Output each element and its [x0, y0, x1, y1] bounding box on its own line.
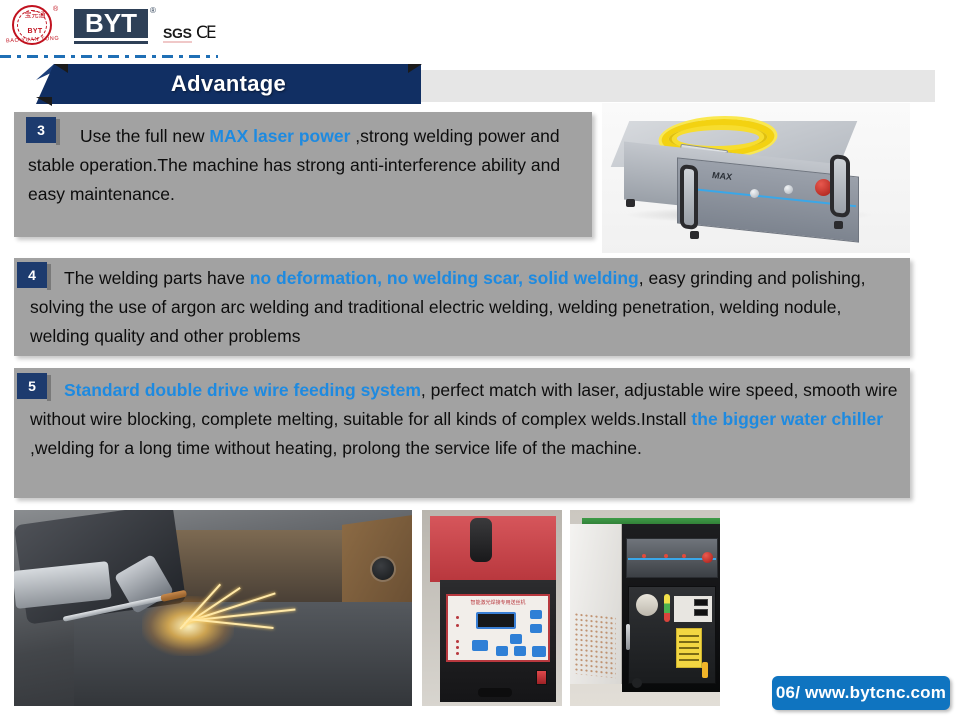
feeder-power-switch[interactable] [536, 670, 547, 685]
cabinet-key-icon [702, 662, 708, 678]
laser-source-foot-3 [834, 221, 843, 229]
feeder-red-top-cover [430, 516, 556, 582]
feeder-button-a[interactable] [496, 646, 508, 656]
laser-welding-in-action-photo [14, 510, 412, 706]
feeder-indicator-3 [456, 640, 459, 643]
panel5-seg-0-highlight: Standard double drive wire feeding syste… [64, 380, 421, 400]
chiller-controller-panel [674, 596, 712, 622]
cabinet-caster-wheel [632, 678, 642, 688]
panel5-seg-2-highlight: the bigger water chiller [691, 409, 883, 429]
chiller-display-1 [694, 599, 708, 606]
cabinet-emergency-stop-button [702, 552, 713, 563]
ce-mark: CE [196, 23, 215, 43]
advantage-panel-4-text: The welding parts have no deformation, n… [14, 258, 910, 359]
emblem-chinese-text: 宝元通 [4, 12, 66, 19]
brand-wordmark-text: BYT [74, 9, 148, 38]
cabinet-led-3 [682, 554, 686, 558]
page-header: 宝元通 BYT BAO YUAN TONG ® BYT ® SGS CE [0, 0, 960, 56]
feeder-digital-display [476, 612, 516, 629]
feeder-button-down[interactable] [530, 624, 542, 633]
max-laser-source-photo: MAX [602, 103, 910, 253]
feeder-button-b[interactable] [514, 646, 526, 656]
welding-horizontal-plate [74, 602, 412, 706]
chiller-display-2 [694, 609, 708, 616]
feeder-front-slot [478, 688, 512, 697]
panel3-seg-0: Use the full new [80, 126, 209, 146]
chiller-level-gauge [664, 594, 670, 622]
feeder-indicator-4 [456, 646, 459, 649]
footer-website-badge[interactable]: 06/ www.bytcnc.com [772, 676, 950, 710]
cabinet-led-2 [664, 554, 668, 558]
chiller-fill-cap [636, 594, 658, 616]
item-number-badge-4: 4 [17, 262, 47, 288]
laser-source-knob-2 [784, 185, 793, 194]
laser-source-knob-1 [750, 189, 759, 198]
feeder-indicator-5 [456, 652, 459, 655]
feeder-panel-title: 智能激光焊接专用送丝机 [448, 599, 548, 606]
welding-arc-flash [142, 596, 234, 656]
chiller-door-handle [626, 624, 630, 650]
emblem-abbr-text: BYT [4, 28, 66, 35]
advantage-panel-5: Standard double drive wire feeding syste… [14, 368, 910, 498]
feeder-button-set[interactable] [472, 640, 488, 651]
section-banner: Advantage [0, 64, 960, 104]
advantage-panel-3-text: Use the full new MAX laser power ,strong… [14, 112, 592, 217]
feeder-carry-handle [470, 518, 492, 562]
feeder-indicator-2 [456, 624, 459, 627]
feeder-button-start[interactable] [532, 646, 546, 657]
welding-plate-hole [372, 558, 394, 580]
item-number-badge-3: 3 [26, 117, 56, 143]
cabinet-door-perforation [574, 612, 616, 678]
laser-source-foot-1 [626, 199, 635, 207]
laser-source-handle-left [680, 164, 698, 230]
brand-registered-icon: ® [150, 6, 156, 15]
cabinet-led-1 [642, 554, 646, 558]
emblem-registered-icon: ® [53, 6, 58, 13]
brand-wordmark-underline [74, 41, 148, 44]
laser-source-handle-right [830, 154, 850, 218]
company-emblem-logo: 宝元通 BYT BAO YUAN TONG ® [4, 4, 66, 52]
emblem-pinyin-text: BAO YUAN TONG [4, 35, 63, 56]
item-number-badge-5: 5 [17, 373, 47, 399]
laser-source-and-water-chiller-cabinet-photo [570, 510, 720, 706]
feeder-control-panel: 智能激光焊接专用送丝机 [446, 594, 550, 662]
cabinet-warning-label [676, 628, 702, 668]
brand-wordmark: BYT [74, 9, 148, 38]
feeder-button-mode[interactable] [510, 634, 522, 644]
slide-root: 宝元通 BYT BAO YUAN TONG ® BYT ® SGS CE Adv… [0, 0, 960, 720]
max-brand-label: MAX [712, 170, 732, 182]
panel5-seg-3: ,welding for a long time without heating… [30, 438, 642, 458]
advantage-panel-5-text: Standard double drive wire feeding syste… [14, 368, 910, 471]
section-title: Advantage [36, 64, 421, 104]
wire-feeder-machine-photo: 智能激光焊接专用送丝机 [422, 510, 562, 706]
advantage-panel-4: The welding parts have no deformation, n… [14, 258, 910, 356]
feeder-indicator-1 [456, 616, 459, 619]
advantage-panel-3: Use the full new MAX laser power ,strong… [14, 112, 592, 237]
header-dash-dot-divider [0, 55, 218, 58]
feeder-button-up[interactable] [530, 610, 542, 619]
panel4-seg-1-highlight: no deformation, no welding scar, solid w… [250, 268, 639, 288]
panel3-seg-1-highlight: MAX laser power [209, 126, 350, 146]
footer-website-text: 06/ www.bytcnc.com [772, 676, 950, 710]
sgs-mark: SGS [163, 25, 192, 43]
laser-source-foot-2 [690, 231, 699, 239]
panel4-seg-0: The welding parts have [64, 268, 250, 288]
